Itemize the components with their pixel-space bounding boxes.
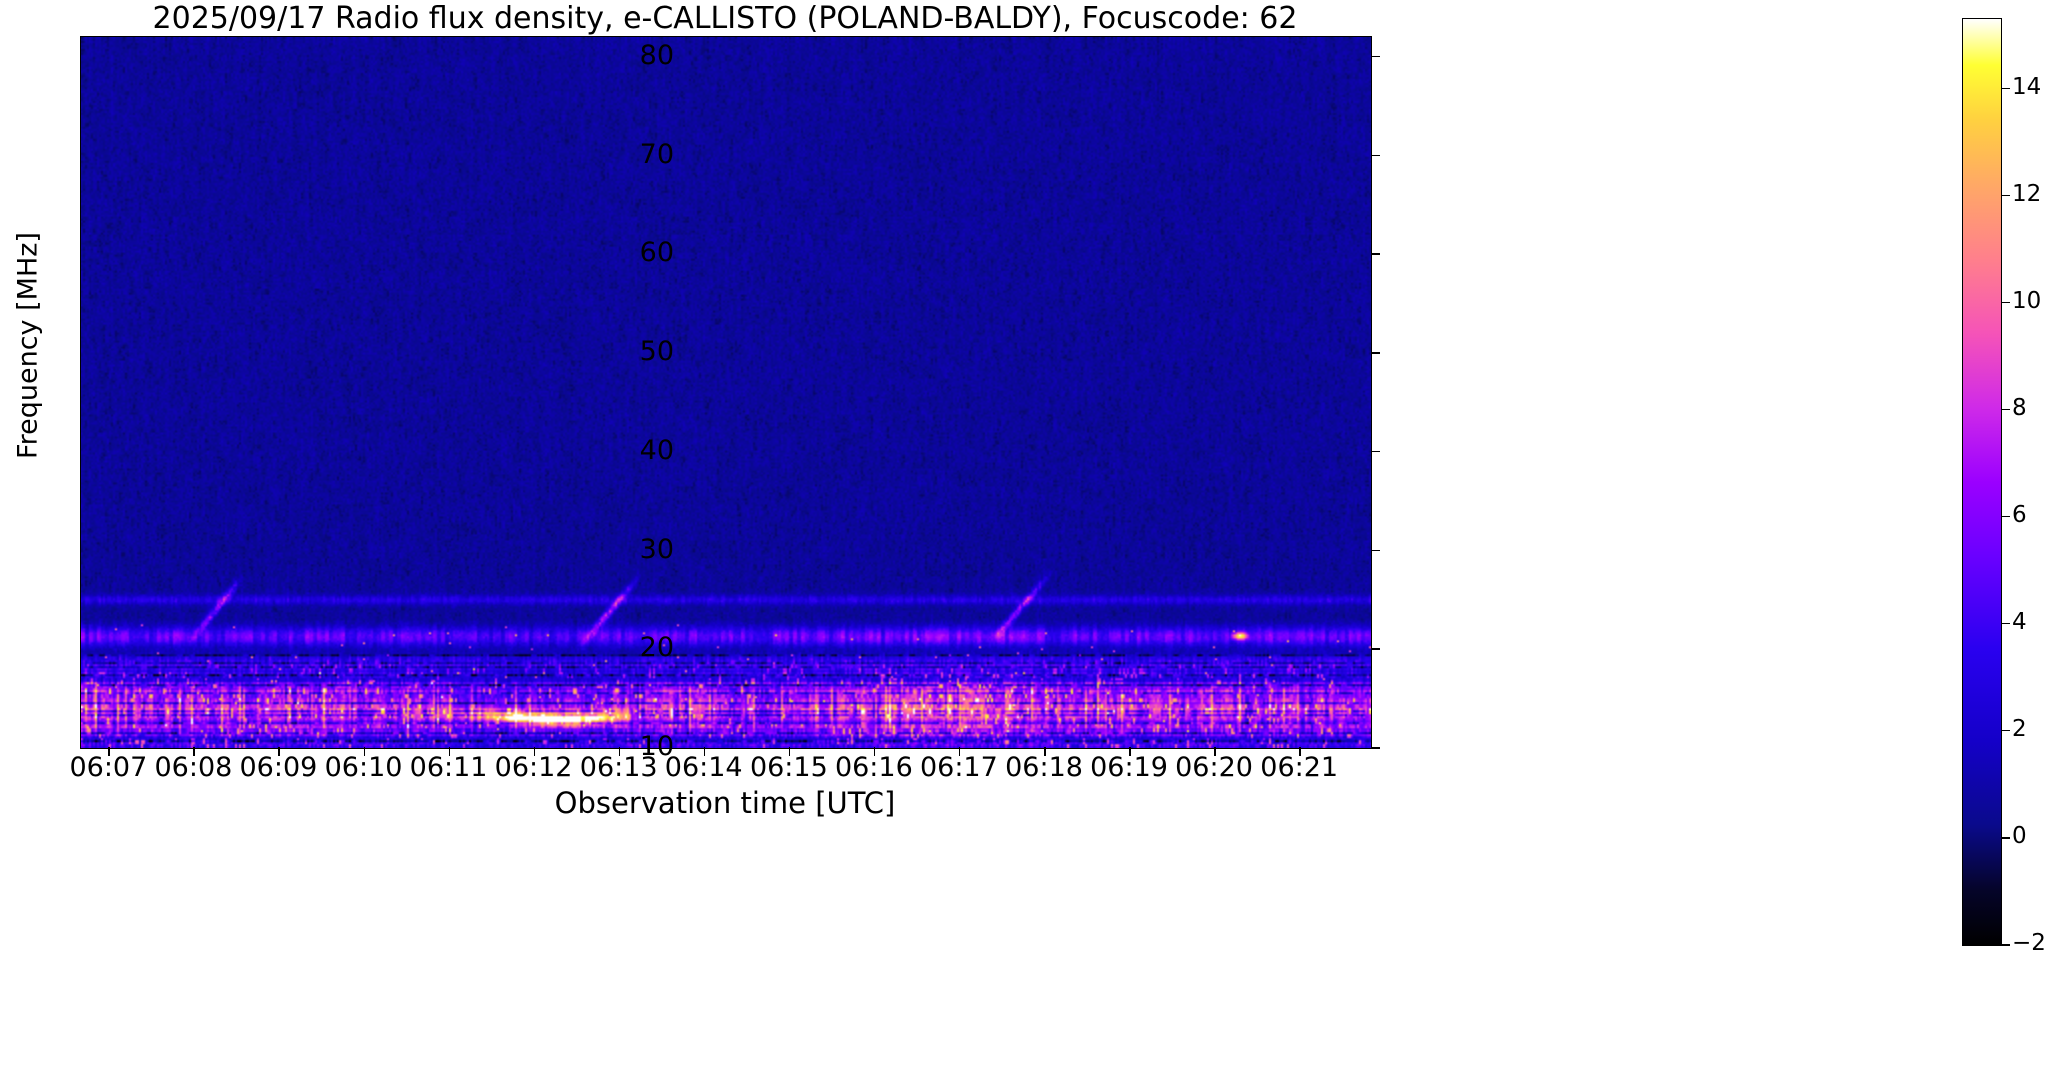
y-tick-mark [1371,155,1380,157]
colorbar-tick-mark [2001,623,2010,625]
x-tick-mark [193,747,195,756]
colorbar-tick-label: 14 [2012,76,2041,99]
colorbar-tick-label: 12 [2012,183,2041,206]
x-tick-mark [1299,747,1301,756]
colorbar-tick-mark [2001,409,2010,411]
spectrogram-plot[interactable] [80,36,1372,749]
y-tick-mark [1371,747,1380,749]
x-tick-mark [789,747,791,756]
colorbar-tick-mark [2001,195,2010,197]
colorbar-tick-label: −2 [2012,932,2046,955]
spectrogram-canvas-holder [81,37,1371,748]
x-tick-label: 06:14 [665,754,743,781]
x-tick-mark [1214,747,1216,756]
x-tick-label: 06:16 [835,754,913,781]
y-tick-mark [1371,648,1380,650]
y-tick-label: 70 [614,141,674,168]
y-tick-label: 20 [614,634,674,661]
x-tick-mark [704,747,706,756]
y-tick-label: 60 [614,239,674,266]
colorbar-gradient [1963,19,2001,945]
colorbar-tick-mark [2001,837,2010,839]
colorbar-tick-label: 6 [2012,504,2027,527]
colorbar-tick-label: 10 [2012,290,2041,313]
y-tick-label: 50 [614,338,674,365]
x-tick-label: 06:21 [1260,754,1338,781]
x-axis-label: Observation time [UTC] [80,786,1370,820]
y-tick-label: 30 [614,536,674,563]
spectrogram-image [81,37,1371,748]
x-tick-mark [278,747,280,756]
x-tick-mark [1129,747,1131,756]
page-title: 2025/09/17 Radio flux density, e-CALLIST… [80,2,1370,36]
y-tick-mark [1371,550,1380,552]
x-tick-label: 06:08 [154,754,232,781]
colorbar-tick-mark [2001,944,2010,946]
x-tick-mark [108,747,110,756]
x-tick-label: 06:18 [1005,754,1083,781]
x-tick-label: 06:13 [580,754,658,781]
x-tick-mark [364,747,366,756]
colorbar[interactable] [1962,18,2002,946]
x-tick-label: 06:09 [239,754,317,781]
x-tick-label: 06:15 [750,754,828,781]
x-tick-label: 06:07 [69,754,147,781]
y-tick-mark [1371,451,1380,453]
colorbar-tick-label: 4 [2012,611,2027,634]
x-tick-mark [449,747,451,756]
y-tick-mark [1371,352,1380,354]
y-tick-label: 40 [614,437,674,464]
x-tick-label: 06:19 [1090,754,1168,781]
x-tick-mark [619,747,621,756]
x-tick-label: 06:17 [920,754,998,781]
x-tick-mark [534,747,536,756]
x-tick-label: 06:20 [1175,754,1253,781]
colorbar-tick-label: 2 [2012,718,2027,741]
y-axis-label: Frequency [MHz] [13,86,44,606]
x-tick-label: 06:12 [495,754,573,781]
x-tick-label: 06:11 [410,754,488,781]
x-tick-mark [1044,747,1046,756]
figure-root: 2025/09/17 Radio flux density, e-CALLIST… [0,0,2047,1067]
x-tick-label: 06:10 [325,754,403,781]
y-tick-mark [1371,56,1380,58]
y-tick-label: 80 [614,42,674,69]
x-tick-mark [874,747,876,756]
colorbar-tick-mark [2001,88,2010,90]
colorbar-tick-mark [2001,302,2010,304]
colorbar-tick-mark [2001,730,2010,732]
x-tick-mark [959,747,961,756]
colorbar-tick-mark [2001,516,2010,518]
colorbar-tick-label: 8 [2012,397,2027,420]
y-tick-mark [1371,253,1380,255]
colorbar-tick-label: 0 [2012,825,2027,848]
